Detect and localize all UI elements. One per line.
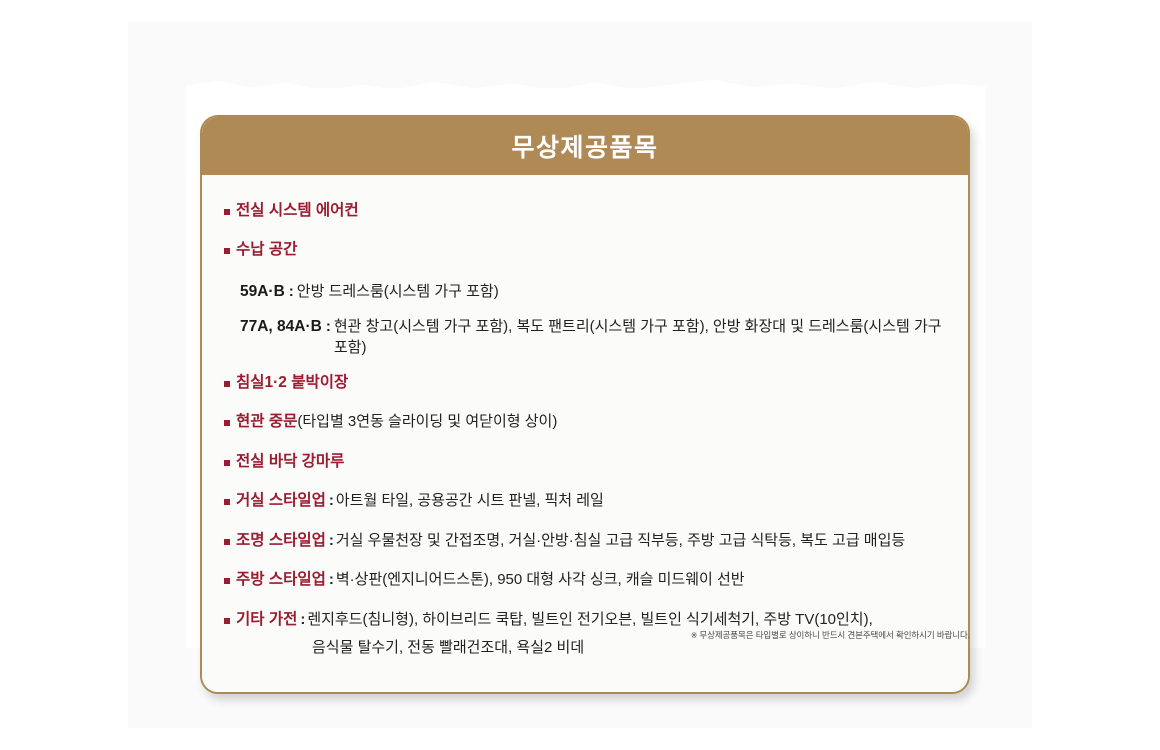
list-item-text: 전실 바닥 강마루 — [236, 452, 946, 472]
list-item-separator: : — [297, 611, 307, 628]
bullet-square-icon — [224, 460, 230, 466]
list-item-label: 기타 가전 — [236, 611, 297, 628]
page-title: 무상제공품목 — [511, 128, 658, 164]
storage-separator: : — [285, 283, 297, 300]
list-item-text: 조명 스타일업:거실 우물천장 및 간접조명, 거실·안방·침실 고급 직부등,… — [236, 531, 946, 551]
list-item: 전실 시스템 에어컨 — [224, 201, 946, 221]
list-item: 조명 스타일업:거실 우물천장 및 간접조명, 거실·안방·침실 고급 직부등,… — [224, 531, 946, 551]
bullet-square-icon — [224, 248, 230, 254]
free-provision-card: 무상제공품목 전실 시스템 에어컨 수납 공간 59A·B : 안방 드레스룸(… — [200, 115, 970, 694]
list-item-label: 조명 스타일업 — [236, 532, 326, 549]
bullet-square-icon — [224, 618, 230, 624]
list-item-text: 주방 스타일업:벽·상판(엔지니어드스톤), 950 대형 사각 싱크, 캐슬 … — [236, 570, 946, 590]
list-item: 전실 바닥 강마루 — [224, 452, 946, 472]
list-item-separator: : — [326, 532, 336, 549]
storage-group: 수납 공간 59A·B : 안방 드레스룸(시스템 가구 포함) 77A, 84… — [224, 240, 946, 356]
list-item-description: 아트월 타일, 공용공간 시트 판넬, 픽처 레일 — [336, 492, 604, 509]
list-item: 거실 스타일업:아트월 타일, 공용공간 시트 판넬, 픽처 레일 — [224, 491, 946, 511]
list-item-text: 전실 시스템 에어컨 — [236, 201, 946, 221]
card-header: 무상제공품목 — [202, 117, 968, 175]
list-item-label: 현관 중문 — [236, 413, 297, 430]
bullet-square-icon — [224, 381, 230, 387]
list-item-label: 침실1·2 붙박이장 — [236, 374, 348, 391]
storage-type-code: 59A·B — [240, 283, 285, 301]
list-item-description: 렌지후드(침니형), 하이브리드 쿡탑, 빌트인 전기오븐, 빌트인 식기세척기… — [307, 611, 872, 628]
list-item-label: 전실 바닥 강마루 — [236, 453, 344, 470]
list-item-separator: : — [326, 492, 336, 509]
storage-separator: : — [322, 318, 334, 335]
list-item-text: 수납 공간 — [236, 240, 946, 260]
list-item-text: 거실 스타일업:아트월 타일, 공용공간 시트 판넬, 픽처 레일 — [236, 491, 946, 511]
bullet-square-icon — [224, 539, 230, 545]
list-item-description: 거실 우물천장 및 간접조명, 거실·안방·침실 고급 직부등, 주방 고급 식… — [336, 532, 905, 549]
bullet-square-icon — [224, 420, 230, 426]
list-item: 현관 중문(타입별 3연동 슬라이딩 및 여닫이형 상이) — [224, 412, 946, 432]
list-item: 수납 공간 — [224, 240, 946, 260]
list-item-label: 거실 스타일업 — [236, 492, 326, 509]
footnote-text: 무상제공품목은 타입별로 상이하니 반드시 견본주택에서 확인하시기 바랍니다. — [699, 630, 970, 640]
list-item-text: 현관 중문(타입별 3연동 슬라이딩 및 여닫이형 상이) — [236, 412, 946, 432]
footnote: ※무상제공품목은 타입별로 상이하니 반드시 견본주택에서 확인하시기 바랍니다… — [200, 629, 970, 641]
storage-type-code: 77A, 84A·B — [240, 318, 322, 336]
list-item-description-line2: 음식물 탈수기, 전동 빨래건조대, 욕실2 비데 — [312, 638, 946, 658]
storage-description: 현관 창고(시스템 가구 포함), 복도 팬트리(시스템 가구 포함), 안방 … — [334, 315, 946, 357]
storage-description: 안방 드레스룸(시스템 가구 포함) — [297, 280, 499, 301]
list-item-separator: : — [326, 571, 336, 588]
list-item-text: 침실1·2 붙박이장 — [236, 373, 946, 393]
list-item-label: 전실 시스템 에어컨 — [236, 202, 359, 219]
list-item-label: 주방 스타일업 — [236, 571, 326, 588]
card-body: 전실 시스템 에어컨 수납 공간 59A·B : 안방 드레스룸(시스템 가구 … — [202, 175, 968, 692]
bullet-square-icon — [224, 499, 230, 505]
storage-row: 59A·B : 안방 드레스룸(시스템 가구 포함) — [224, 280, 946, 301]
list-item-description: 벽·상판(엔지니어드스톤), 950 대형 사각 싱크, 캐슬 미드웨이 선반 — [336, 571, 745, 588]
storage-row: 77A, 84A·B : 현관 창고(시스템 가구 포함), 복도 팬트리(시스… — [224, 315, 946, 357]
list-item: 주방 스타일업:벽·상판(엔지니어드스톤), 950 대형 사각 싱크, 캐슬 … — [224, 570, 946, 590]
bullet-square-icon — [224, 578, 230, 584]
list-item-note: (타입별 3연동 슬라이딩 및 여닫이형 상이) — [297, 413, 557, 430]
list-item-label: 수납 공간 — [236, 241, 297, 258]
list-item: 침실1·2 붙박이장 — [224, 373, 946, 393]
bullet-square-icon — [224, 209, 230, 215]
